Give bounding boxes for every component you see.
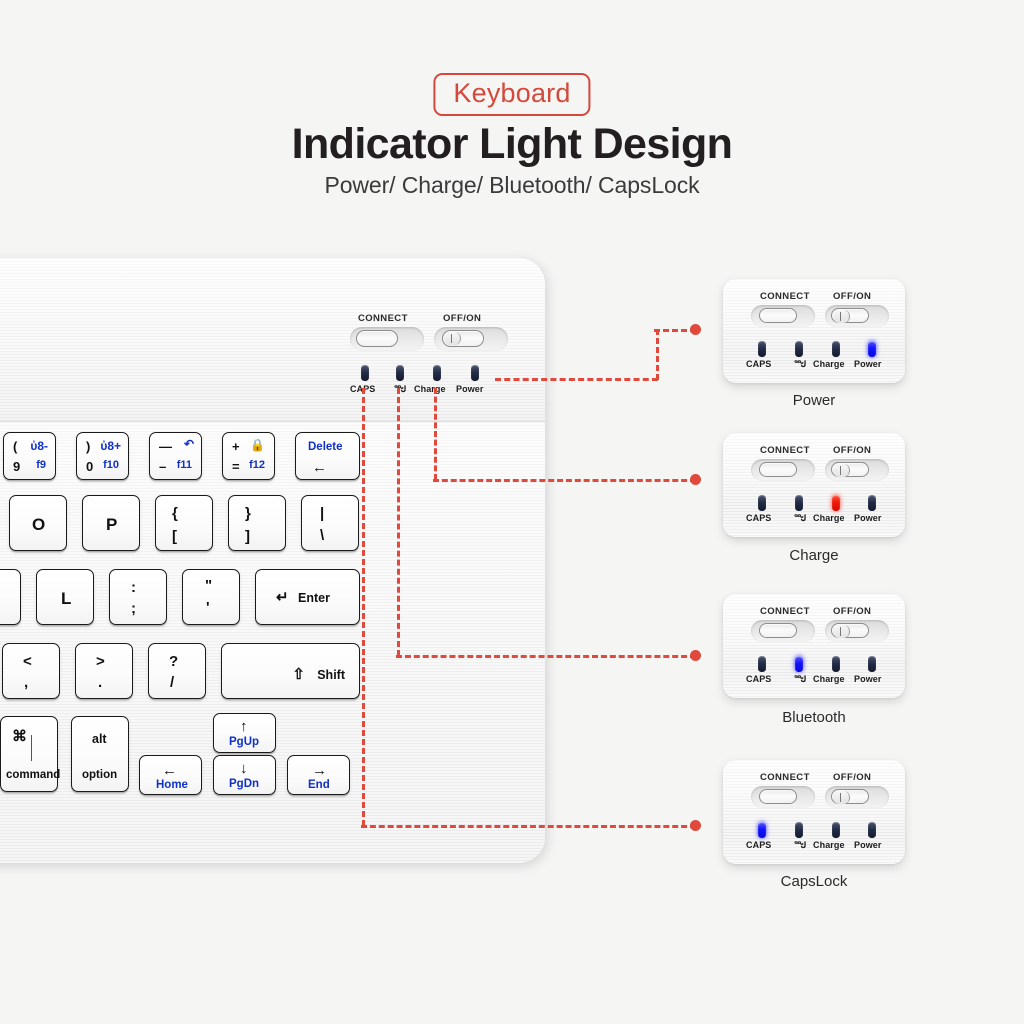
callout-charge-led-bluetooth-label: ᙳ	[794, 513, 806, 524]
led-bluetooth	[396, 365, 404, 381]
callout-caption-capslock: CapsLock	[723, 873, 905, 890]
callout-power-led-power	[868, 341, 876, 357]
callout-charge-connect-switch[interactable]	[759, 462, 797, 477]
connector-power-dot	[690, 324, 701, 335]
callout-power-led-charge-label: Charge	[813, 359, 845, 369]
callout-charge-led-bluetooth	[795, 495, 803, 511]
callout-bluetooth-onoff-switch[interactable]	[831, 623, 869, 638]
connector-capslock-v	[362, 388, 365, 826]
key-slash[interactable]: ? /	[148, 643, 206, 699]
callout-capslock-led-power	[868, 822, 876, 838]
callout-bluetooth-led-bluetooth-label: ᙳ	[794, 674, 806, 685]
callout-bluetooth-led-caps	[758, 656, 766, 672]
callout-bluetooth-connect-switch[interactable]	[759, 623, 797, 638]
callout-bluetooth-onoff-label: OFF/ON	[833, 606, 871, 617]
arrow-right-icon: →	[312, 763, 327, 778]
key-command[interactable]: ⌘ command	[0, 716, 58, 792]
key-p[interactable]: P	[82, 495, 140, 551]
callout-capslock-led-charge	[832, 822, 840, 838]
connector-capslock-h	[361, 825, 696, 828]
callout-capslock-led-caps-label: CAPS	[746, 840, 771, 850]
led-power	[471, 365, 479, 381]
keyboard-photo: CONNECT OFF/ON CAPS ᙳ Charge Power & ▶❙ …	[0, 258, 545, 863]
key-comma[interactable]: < ,	[2, 643, 60, 699]
led-power-label: Power	[456, 384, 484, 394]
key-up-pgup[interactable]: ↑ PgUp	[213, 713, 276, 753]
callout-bluetooth-led-bluetooth	[795, 656, 803, 672]
connector-charge-h	[433, 479, 696, 482]
callout-bluetooth-led-power-label: Power	[854, 674, 882, 684]
connect-switch-label: CONNECT	[358, 313, 408, 324]
keyboard-badge: Keyboard	[433, 73, 590, 116]
key-equals[interactable]: + 🔒 = f12	[222, 432, 275, 480]
key-9[interactable]: ( ὐ8- 9 f9	[3, 432, 56, 480]
arrow-up-icon: ↑	[240, 719, 248, 734]
callout-charge-connect-label: CONNECT	[760, 445, 810, 456]
callout-capslock-onoff-switch[interactable]	[831, 789, 869, 804]
infographic-canvas: Keyboard Indicator Light Design Power/ C…	[0, 0, 1024, 1024]
key-period[interactable]: > .	[75, 643, 133, 699]
command-divider	[31, 735, 32, 761]
callout-charge-onoff-switch[interactable]	[831, 462, 869, 477]
shift-arrow-icon: ⇧	[292, 667, 305, 682]
callout-power-led-caps-label: CAPS	[746, 359, 771, 369]
callout-bluetooth-led-charge-label: Charge	[813, 674, 845, 684]
connector-bluetooth-h	[396, 655, 696, 658]
keyboard-deck	[0, 421, 545, 863]
key-enter[interactable]: ↵ Enter	[255, 569, 360, 625]
key-l[interactable]: L	[36, 569, 94, 625]
key-right-end[interactable]: → End	[287, 755, 350, 795]
callout-card-capslock: CONNECT OFF/ON CAPS ᙳ Charge Power	[723, 760, 905, 864]
key-bracket-right[interactable]: } ]	[228, 495, 286, 551]
callout-capslock-led-bluetooth	[795, 822, 803, 838]
connector-charge-v	[434, 388, 437, 480]
connector-bluetooth-dot	[690, 650, 701, 661]
callout-bluetooth-led-caps-label: CAPS	[746, 674, 771, 684]
callout-power-connect-label: CONNECT	[760, 291, 810, 302]
page-subtitle: Power/ Charge/ Bluetooth/ CapsLock	[324, 172, 699, 199]
callout-capslock-led-power-label: Power	[854, 840, 882, 850]
callout-card-bluetooth: CONNECT OFF/ON CAPS ᙳ Charge Power	[723, 594, 905, 698]
lock-icon: 🔒	[250, 439, 265, 451]
callout-bluetooth-led-charge	[832, 656, 840, 672]
led-charge	[433, 365, 441, 381]
callout-charge-led-charge-label: Charge	[813, 513, 845, 523]
callout-charge-onoff-label: OFF/ON	[833, 445, 871, 456]
connector-capslock-dot	[690, 820, 701, 831]
key-semicolon[interactable]: : ;	[109, 569, 167, 625]
key-delete[interactable]: Delete ←	[295, 432, 360, 480]
callout-bluetooth-led-power	[868, 656, 876, 672]
backspace-arrow-icon: ←	[312, 460, 327, 475]
key-left-home[interactable]: ← Home	[139, 755, 202, 795]
callout-power-onoff-label: OFF/ON	[833, 291, 871, 302]
callout-power-led-caps	[758, 341, 766, 357]
callout-power-onoff-switch[interactable]	[831, 308, 869, 323]
page-title: Indicator Light Design	[292, 119, 733, 170]
callout-capslock-onoff-nub	[833, 791, 850, 804]
callout-card-power: CONNECT OFF/ON CAPS ᙳ Charge Power	[723, 279, 905, 383]
arrow-left-icon: ←	[162, 763, 177, 778]
power-switch-label: OFF/ON	[443, 313, 481, 324]
key-shift-right[interactable]: ⇧ Shift	[221, 643, 360, 699]
callout-power-led-charge	[832, 341, 840, 357]
key-o[interactable]: O	[9, 495, 67, 551]
key-option[interactable]: alt option	[71, 716, 129, 792]
callout-power-led-power-label: Power	[854, 359, 882, 369]
callout-capslock-led-bluetooth-label: ᙳ	[794, 840, 806, 851]
power-switch[interactable]	[442, 330, 484, 347]
callout-caption-bluetooth: Bluetooth	[723, 709, 905, 726]
led-charge-label: Charge	[414, 384, 446, 394]
callout-power-led-bluetooth	[795, 341, 803, 357]
power-switch-nub	[444, 332, 461, 345]
key-minus[interactable]: — ↶ – f11	[149, 432, 202, 480]
key-down-pgdn[interactable]: ↓ PgDn	[213, 755, 276, 795]
callout-power-led-bluetooth-label: ᙳ	[794, 359, 806, 370]
key-bracket-left[interactable]: { [	[155, 495, 213, 551]
callout-charge-led-power	[868, 495, 876, 511]
callout-power-connect-switch[interactable]	[759, 308, 797, 323]
key-quote[interactable]: " '	[182, 569, 240, 625]
enter-arrow-icon: ↵	[276, 590, 289, 605]
callout-capslock-led-charge-label: Charge	[813, 840, 845, 850]
callout-caption-power: Power	[723, 392, 905, 409]
callout-capslock-connect-label: CONNECT	[760, 772, 810, 783]
callout-charge-led-caps	[758, 495, 766, 511]
callout-caption-charge: Charge	[723, 547, 905, 564]
callout-charge-led-charge	[832, 495, 840, 511]
callout-charge-led-power-label: Power	[854, 513, 882, 523]
callout-card-charge: CONNECT OFF/ON CAPS ᙳ Charge Power	[723, 433, 905, 537]
key-0[interactable]: ) ὐ8+ 0 f10	[76, 432, 129, 480]
callout-bluetooth-connect-label: CONNECT	[760, 606, 810, 617]
callout-capslock-led-caps	[758, 822, 766, 838]
callout-charge-onoff-nub	[833, 464, 850, 477]
key-backslash[interactable]: | \	[301, 495, 359, 551]
callout-charge-led-caps-label: CAPS	[746, 513, 771, 523]
led-caps	[361, 365, 369, 381]
callout-bluetooth-onoff-nub	[833, 625, 850, 638]
connector-bluetooth-v	[397, 388, 400, 656]
key-k[interactable]: K	[0, 569, 21, 625]
arrow-down-icon: ↓	[240, 761, 248, 776]
callout-capslock-onoff-label: OFF/ON	[833, 772, 871, 783]
connector-charge-dot	[690, 474, 701, 485]
callout-capslock-connect-switch[interactable]	[759, 789, 797, 804]
led-bluetooth-label: ᙳ	[394, 384, 406, 395]
connector-power-h1	[495, 378, 658, 381]
connect-switch[interactable]	[356, 330, 398, 347]
connector-power-v	[656, 329, 659, 380]
callout-power-onoff-nub	[833, 310, 850, 323]
command-icon: ⌘	[12, 729, 27, 744]
